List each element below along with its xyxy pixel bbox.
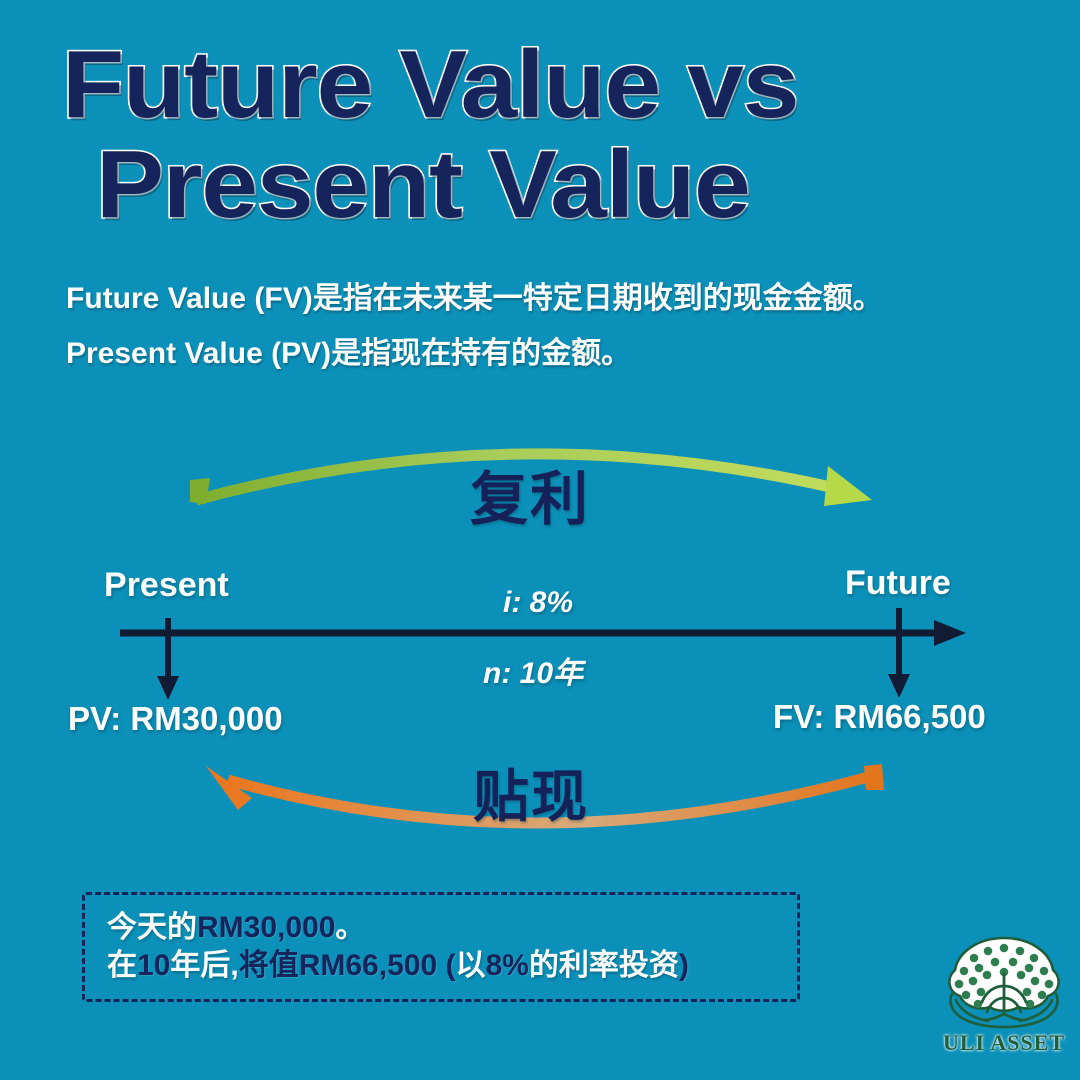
timeline-axis: [120, 620, 966, 646]
future-label: Future: [845, 564, 951, 603]
title-line-1: Future Value vs: [62, 38, 1080, 132]
callout-line-1: 今天的RM30,000。: [107, 909, 797, 947]
present-value-amount: PV: RM30,000: [68, 700, 283, 738]
future-value-amount: FV: RM66,500: [773, 698, 986, 736]
callout-l2-c: 将值: [239, 949, 299, 982]
subtitle-line-2: Present Value (PV)是指现在持有的金额。: [66, 337, 1056, 370]
title-line-2: Present Value: [96, 138, 1078, 232]
callout-l2-a: 在: [107, 949, 137, 982]
page-title: Future Value vs Present Value: [62, 38, 1022, 238]
present-tick-arrow: [157, 618, 179, 700]
callout-l2-d: 以: [455, 949, 485, 982]
callout-l2-b: 年后,: [170, 949, 238, 982]
callout-l2-years: 10: [137, 949, 170, 982]
discount-label: 贴现: [473, 752, 589, 833]
callout-l1-amount: RM30,000: [197, 911, 335, 944]
interest-rate-label: i: 8%: [503, 586, 573, 620]
summary-callout-box: 今天的RM30,000。 在10年后,将值RM66,500 (以8%的利率投资): [82, 892, 800, 1002]
callout-l1-suffix: 。: [335, 911, 365, 944]
compound-interest-label: 复利: [470, 452, 590, 536]
periods-label: n: 10年: [483, 648, 583, 692]
callout-l2-f: ): [679, 949, 689, 982]
infographic-canvas: Future Value vs Present Value Future Val…: [0, 0, 1080, 1080]
present-label: Present: [104, 566, 229, 605]
callout-l2-e: 的利率投资: [529, 949, 679, 982]
callout-line-2: 在10年后,将值RM66,500 (以8%的利率投资): [107, 947, 797, 985]
logo-wordmark: ULI ASSET: [938, 1030, 1070, 1056]
callout-l2-rate: 8%: [485, 949, 528, 982]
callout-l1-prefix: 今天的: [107, 911, 197, 944]
callout-l2-amount: RM66,500 (: [299, 949, 456, 982]
future-tick-arrow: [888, 608, 910, 698]
brand-logo: ULI ASSET: [938, 928, 1070, 1060]
subtitle-line-1: Future Value (FV)是指在未来某一特定日期收到的现金金额。: [66, 282, 1056, 315]
subtitle-block: Future Value (FV)是指在未来某一特定日期收到的现金金额。 Pre…: [66, 282, 1056, 392]
